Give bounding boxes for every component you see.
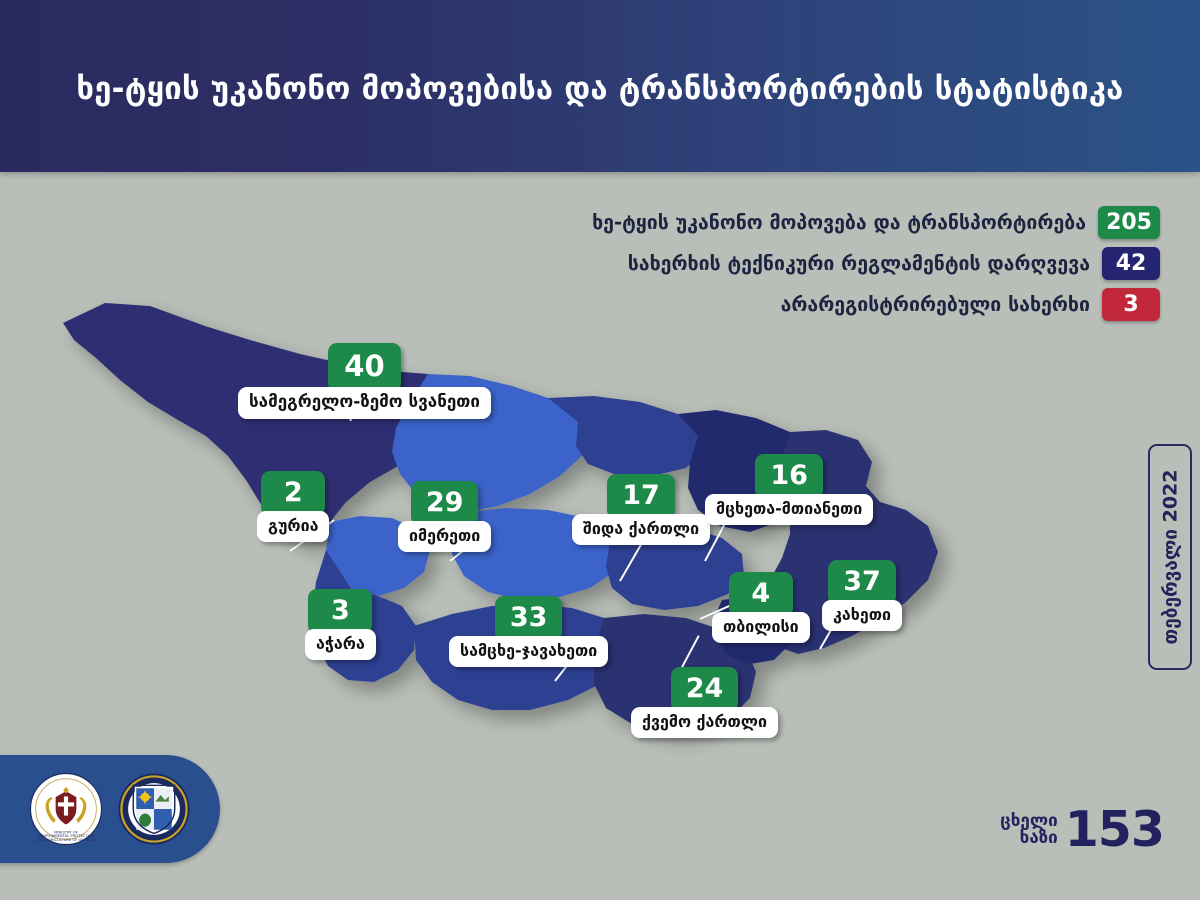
callout-value: 3 (308, 589, 372, 634)
legend-value-badge: 205 (1098, 206, 1160, 239)
callout-value: 40 (328, 343, 400, 392)
callout-label: იმერეთი (398, 521, 491, 552)
callout-label: კახეთი (822, 600, 902, 631)
callout-samtskhe-javakheti[interactable]: 33 სამცხე-ჯავახეთი (449, 596, 608, 667)
callout-kakheti[interactable]: 37 კახეთი (822, 560, 902, 631)
callout-label: გურია (257, 511, 329, 542)
callout-label: შიდა ქართლი (572, 514, 710, 545)
legend-row-illegal-logging: ხე-ტყის უკანონო მოპოვება და ტრანსპორტირე… (592, 206, 1160, 239)
callout-samegrelo[interactable]: 40 სამეგრელო-ზემო სვანეთი (238, 343, 491, 419)
svg-text:AND AGRICULTURE OF GEORGIA: AND AGRICULTURE OF GEORGIA (36, 838, 96, 842)
callout-value: 4 (729, 572, 793, 617)
callout-value: 33 (495, 596, 563, 641)
environmental-supervision-emblem-icon (117, 772, 191, 846)
infographic-root: ხე-ტყის უკანონო მოპოვებისა და ტრანსპორტი… (0, 0, 1200, 900)
callout-value: 2 (261, 471, 325, 516)
hotline-number: 153 (1065, 808, 1164, 852)
callout-label: მცხეთა-მთიანეთი (705, 494, 873, 525)
callout-guria[interactable]: 2 გურია (257, 471, 329, 542)
header-banner: ხე-ტყის უკანონო მოპოვებისა და ტრანსპორტი… (0, 0, 1200, 172)
hotline: ცხელი ხაზი 153 (1000, 808, 1164, 852)
callout-value: 37 (828, 560, 896, 605)
callout-value: 29 (411, 481, 479, 526)
callout-shida-kartli[interactable]: 17 შიდა ქართლი (572, 474, 710, 545)
callout-kvemo-kartli[interactable]: 24 ქვემო ქართლი (631, 667, 778, 738)
callout-label: სამეგრელო-ზემო სვანეთი (238, 387, 491, 419)
logo-pill: MINISTRY OF ENVIRONMENTAL PROTECTION AND… (0, 755, 220, 863)
callout-tbilisi[interactable]: 4 თბილისი (712, 572, 810, 643)
date-tab-label: თებერვალი 2022 (1159, 469, 1181, 644)
hotline-words: ცხელი ხაზი (1000, 813, 1058, 848)
date-tab: თებერვალი 2022 (1148, 444, 1192, 670)
callout-adjara[interactable]: 3 აჭარა (305, 589, 376, 660)
legend-value-badge: 42 (1102, 247, 1160, 280)
callout-label: აჭარა (305, 629, 376, 660)
page-title: ხე-ტყის უკანონო მოპოვებისა და ტრანსპორტი… (76, 65, 1123, 107)
legend-value-badge: 3 (1102, 288, 1160, 321)
callout-label: თბილისი (712, 612, 810, 643)
callout-label: სამცხე-ჯავახეთი (449, 636, 608, 667)
callout-label: ქვემო ქართლი (631, 707, 778, 738)
hotline-line2: ხაზი (1020, 830, 1058, 847)
callout-mtskheta-mtianeti[interactable]: 16 მცხეთა-მთიანეთი (705, 454, 873, 525)
callout-value: 16 (755, 454, 823, 499)
legend-label: ხე-ტყის უკანონო მოპოვება და ტრანსპორტირე… (592, 213, 1086, 233)
georgia-map (0, 270, 1060, 790)
callout-value: 17 (607, 474, 675, 519)
callout-imereti[interactable]: 29 იმერეთი (398, 481, 491, 552)
callout-value: 24 (671, 667, 739, 712)
ministry-of-environment-emblem-icon: MINISTRY OF ENVIRONMENTAL PROTECTION AND… (29, 772, 103, 846)
